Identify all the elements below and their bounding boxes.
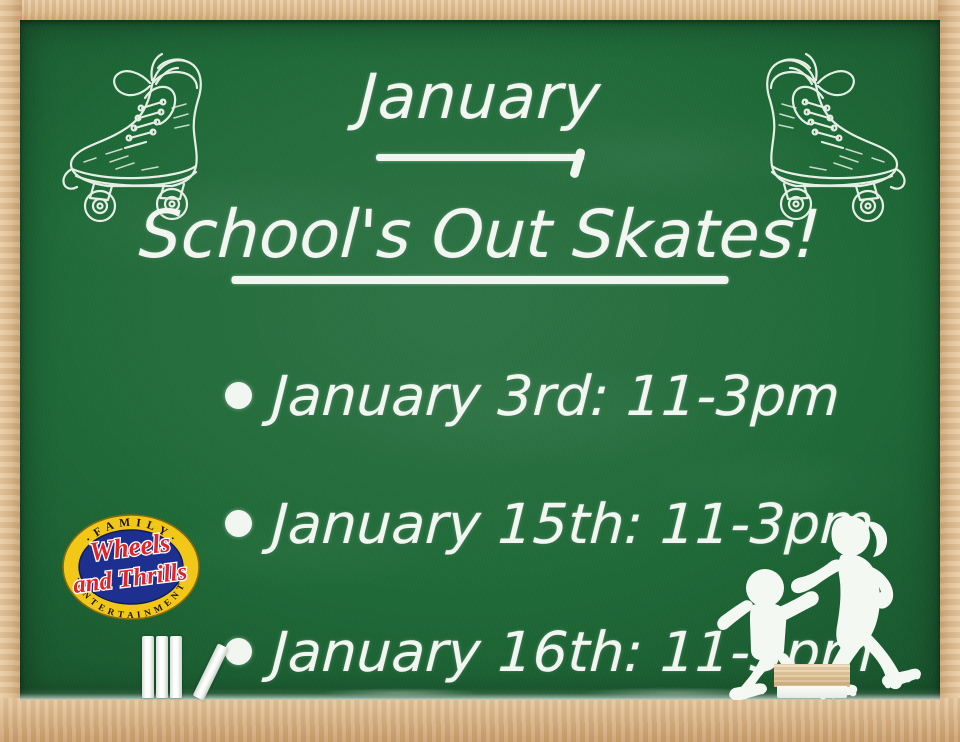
chalk-sticks-group[interactable]	[140, 630, 270, 698]
chalk-stick-icon[interactable]	[142, 636, 154, 698]
eraser-wood-body	[774, 664, 850, 687]
frame-right-rail	[938, 0, 960, 742]
chalkboard-eraser-icon[interactable]	[774, 664, 850, 698]
page-title-month: January	[20, 66, 940, 128]
chalkboard-surface: January School's Out Skates! January 3rd…	[20, 20, 940, 700]
page-title-main: School's Out Skates!	[20, 202, 940, 268]
chalkboard-poster: January School's Out Skates! January 3rd…	[0, 0, 960, 742]
event-date-label: January 3rd: 11-3pm	[271, 369, 842, 424]
chalk-stick-icon[interactable]	[170, 636, 182, 698]
chalk-stick-leaning-icon[interactable]	[193, 643, 229, 700]
chalk-stick-icon[interactable]	[156, 636, 168, 698]
month-underline	[376, 154, 584, 161]
list-item: January 3rd: 11-3pm	[20, 332, 940, 460]
frame-left-rail	[0, 0, 22, 742]
bullet-dot-icon	[225, 510, 252, 537]
eraser-felt-pad	[777, 686, 847, 698]
main-underline	[232, 276, 729, 284]
frame-top-rail	[0, 0, 960, 22]
wheels-and-thrills-logo: · F A M I L Y · · E N T E R T A I N M E …	[58, 510, 204, 622]
frame-bottom-ledge	[0, 698, 960, 742]
bullet-dot-icon	[225, 382, 252, 409]
